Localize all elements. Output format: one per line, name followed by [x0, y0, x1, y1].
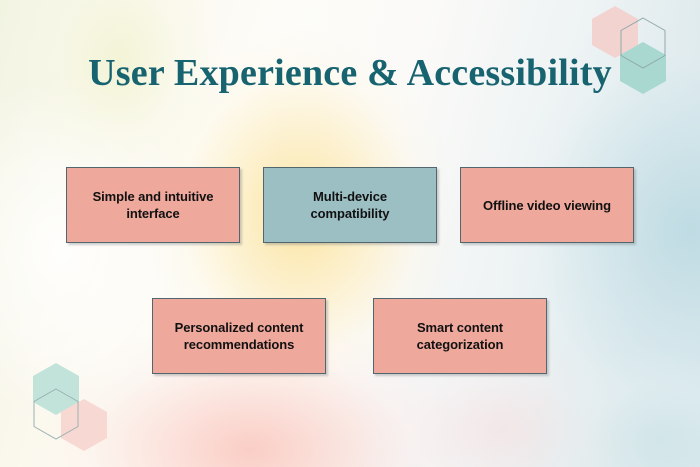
feature-box-smart-content-categorization[interactable]: Smart content categorization: [373, 298, 547, 374]
feature-box-label: Simple and intuitive interface: [77, 188, 229, 222]
feature-box-label: Multi-device compatibility: [274, 188, 426, 222]
feature-box-offline-video-viewing[interactable]: Offline video viewing: [460, 167, 634, 243]
feature-box-label: Offline video viewing: [483, 197, 611, 214]
hexagon-outline-icon: [33, 388, 79, 440]
feature-box-multi-device-compatibility[interactable]: Multi-device compatibility: [263, 167, 437, 243]
slide-title: User Experience & Accessibility: [0, 50, 700, 96]
feature-box-simple-and-intuitive-interface[interactable]: Simple and intuitive interface: [66, 167, 240, 243]
slide-canvas: User Experience & Accessibility Simple a…: [0, 0, 700, 467]
feature-box-personalized-content-recommendations[interactable]: Personalized content recommendations: [152, 298, 326, 374]
feature-box-label: Smart content categorization: [384, 319, 536, 353]
hexagon-cluster-bottom-left: [33, 363, 113, 455]
feature-box-label: Personalized content recommendations: [163, 319, 315, 353]
